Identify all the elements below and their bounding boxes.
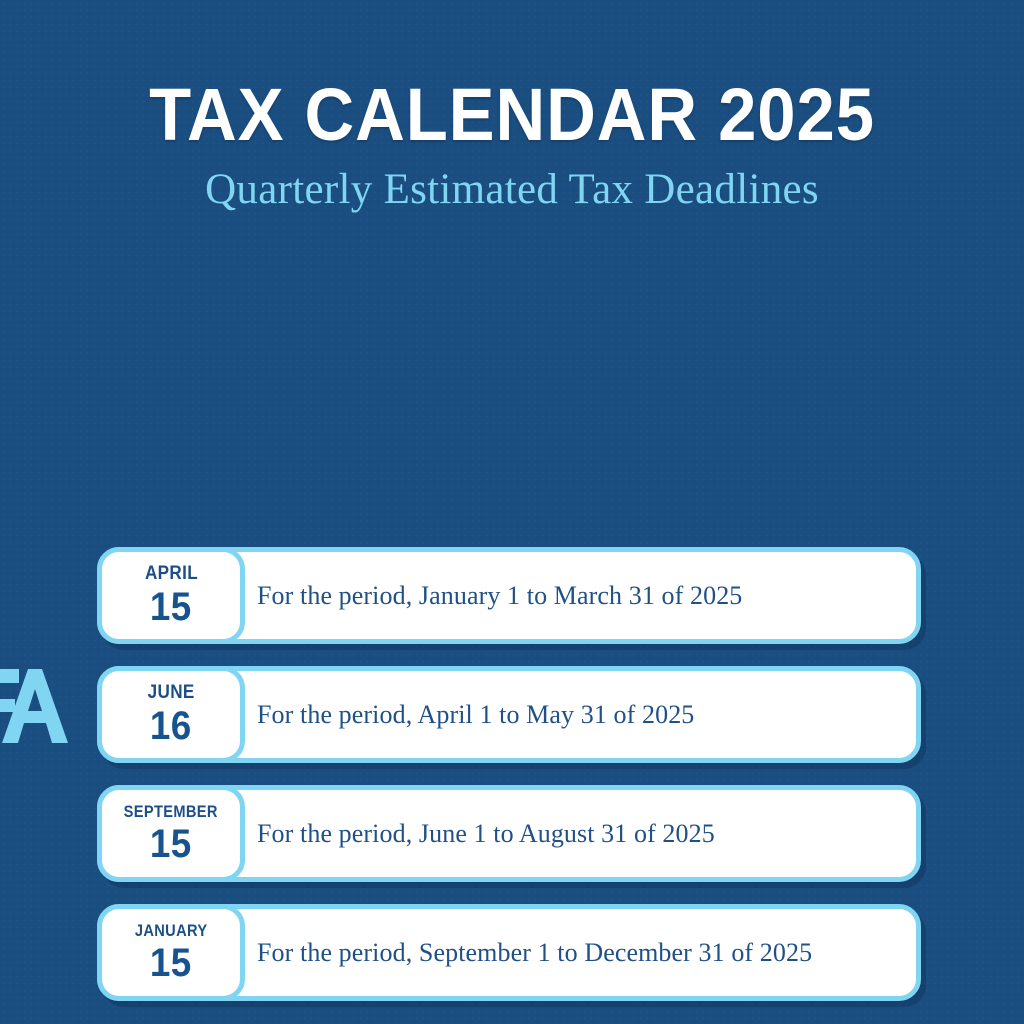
date-badge: SEPTEMBER 15	[97, 785, 245, 882]
badge-day-label: 16	[150, 706, 192, 746]
deadline-period-text: For the period, September 1 to December …	[257, 937, 812, 968]
badge-month-label: JANUARY	[135, 922, 208, 939]
deadline-card-body: For the period, September 1 to December …	[257, 904, 911, 1001]
list-item: SEPTEMBER 15 For the period, June 1 to A…	[97, 785, 921, 882]
deadline-list: APRIL 15 For the period, January 1 to Ma…	[97, 547, 921, 1001]
deadline-period-text: For the period, April 1 to May 31 of 202…	[257, 699, 694, 730]
badge-month-label: APRIL	[144, 564, 197, 583]
deadline-card-body: For the period, January 1 to March 31 of…	[257, 547, 911, 644]
list-item: JUNE 16 For the period, April 1 to May 3…	[97, 666, 921, 763]
date-badge: JUNE 16	[97, 666, 245, 763]
deadline-card-body: For the period, June 1 to August 31 of 2…	[257, 785, 911, 882]
list-item: APRIL 15 For the period, January 1 to Ma…	[97, 547, 921, 644]
deadline-period-text: For the period, June 1 to August 31 of 2…	[257, 818, 715, 849]
badge-day-label: 15	[150, 824, 192, 864]
deadline-card-body: For the period, April 1 to May 31 of 202…	[257, 666, 911, 763]
fa-logo-icon	[0, 665, 68, 747]
badge-month-label: SEPTEMBER	[124, 803, 218, 820]
deadline-period-text: For the period, January 1 to March 31 of…	[257, 580, 742, 611]
list-item: JANUARY 15 For the period, September 1 t…	[97, 904, 921, 1001]
poster-canvas: TAX CALENDAR 2025 Quarterly Estimated Ta…	[0, 0, 1024, 1024]
badge-day-label: 15	[150, 587, 192, 627]
page-subtitle: Quarterly Estimated Tax Deadlines	[0, 166, 1024, 213]
page-title: TAX CALENDAR 2025	[36, 78, 988, 152]
badge-day-label: 15	[150, 943, 192, 983]
date-badge: JANUARY 15	[97, 904, 245, 1001]
date-badge: APRIL 15	[97, 547, 245, 644]
badge-month-label: JUNE	[147, 683, 194, 702]
poster-header: TAX CALENDAR 2025 Quarterly Estimated Ta…	[0, 0, 1024, 213]
